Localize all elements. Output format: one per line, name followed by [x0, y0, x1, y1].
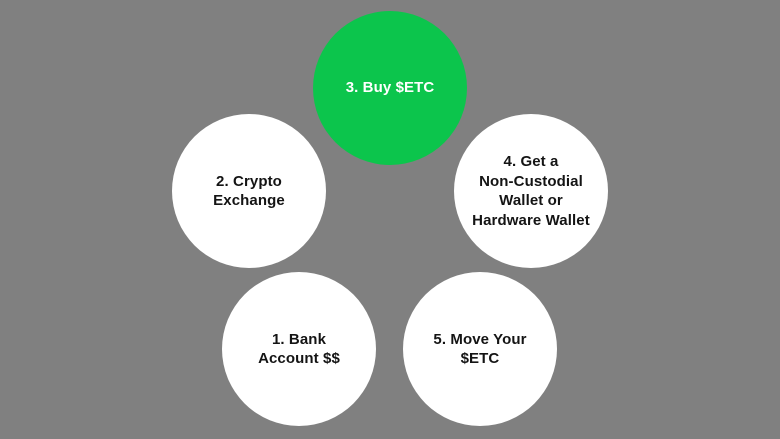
step-node-move-etc[interactable]: 5. Move Your $ETC: [403, 272, 557, 426]
step-node-get-wallet[interactable]: 4. Get a Non-Custodial Wallet or Hardwar…: [454, 114, 608, 268]
step-node-buy-etc[interactable]: 3. Buy $ETC: [313, 11, 467, 165]
step-node-bank-account-label: 1. Bank Account $$: [250, 330, 348, 369]
step-node-get-wallet-label: 4. Get a Non-Custodial Wallet or Hardwar…: [464, 152, 598, 230]
step-node-crypto-exchange[interactable]: 2. Crypto Exchange: [172, 114, 326, 268]
step-node-bank-account[interactable]: 1. Bank Account $$: [222, 272, 376, 426]
step-node-move-etc-label: 5. Move Your $ETC: [425, 330, 534, 369]
step-node-buy-etc-label: 3. Buy $ETC: [338, 78, 443, 98]
step-node-crypto-exchange-label: 2. Crypto Exchange: [205, 172, 293, 211]
diagram-canvas: 3. Buy $ETC 2. Crypto Exchange 4. Get a …: [0, 0, 780, 439]
